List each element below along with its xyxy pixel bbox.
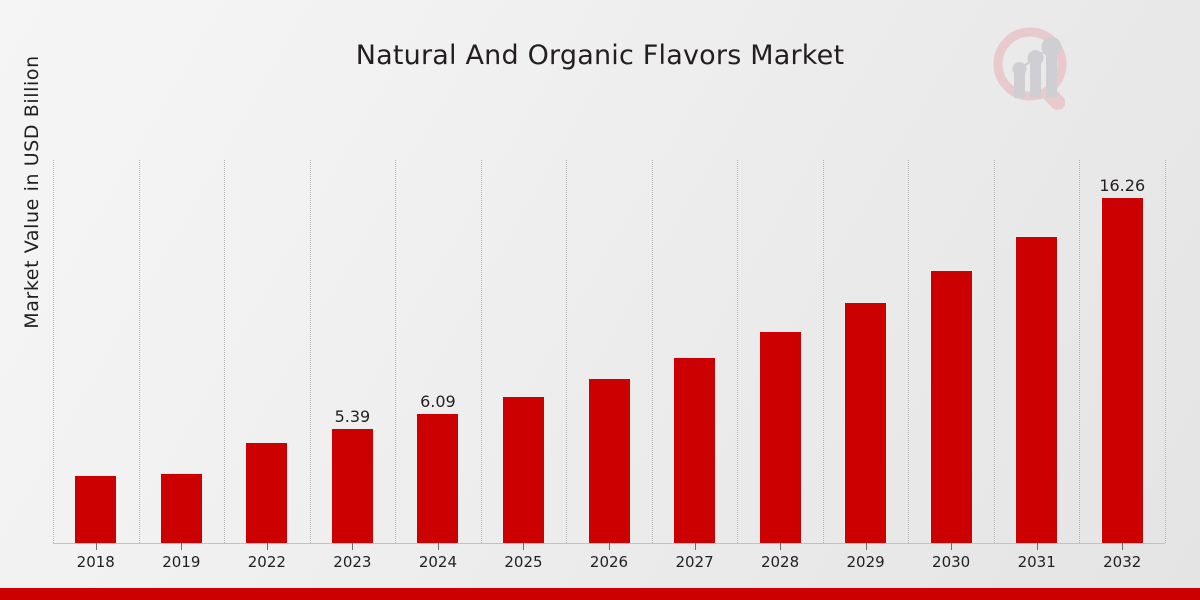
bar-2018[interactable] bbox=[74, 475, 117, 543]
page-title: Natural And Organic Flavors Market bbox=[0, 40, 1200, 71]
gridline-vertical bbox=[652, 160, 653, 543]
x-axis-label-2030: 2030 bbox=[932, 553, 970, 571]
bar-2027[interactable] bbox=[673, 357, 716, 543]
x-axis-label-2032: 2032 bbox=[1103, 553, 1141, 571]
x-axis-tick-2032 bbox=[1122, 543, 1123, 550]
x-axis-tick-2024 bbox=[438, 543, 439, 550]
bar-2024[interactable]: 6.09 bbox=[416, 413, 459, 543]
bar-value-label-2032: 16.26 bbox=[1099, 178, 1145, 194]
gridline-vertical bbox=[481, 160, 482, 543]
gridline-vertical bbox=[566, 160, 567, 543]
bar-2029[interactable] bbox=[844, 302, 887, 543]
bar-value-label-2023: 5.39 bbox=[335, 409, 371, 425]
x-axis-label-2028: 2028 bbox=[761, 553, 799, 571]
x-axis-tick-2018 bbox=[96, 543, 97, 550]
bar-2032[interactable]: 16.26 bbox=[1101, 197, 1144, 543]
gridline-vertical bbox=[994, 160, 995, 543]
x-axis-tick-2029 bbox=[866, 543, 867, 550]
gridline-vertical bbox=[310, 160, 311, 543]
bar-2030[interactable] bbox=[930, 270, 973, 543]
x-axis-tick-2028 bbox=[780, 543, 781, 550]
x-axis-label-2029: 2029 bbox=[847, 553, 885, 571]
plot-area: 5.396.0916.26 bbox=[53, 160, 1165, 543]
bar-2025[interactable] bbox=[502, 396, 545, 543]
x-axis-label-2019: 2019 bbox=[162, 553, 200, 571]
bar-2023[interactable]: 5.39 bbox=[331, 428, 374, 543]
gridline-vertical bbox=[737, 160, 738, 543]
x-axis-label-2022: 2022 bbox=[248, 553, 286, 571]
x-axis-label-2024: 2024 bbox=[419, 553, 457, 571]
x-axis-label-2031: 2031 bbox=[1018, 553, 1056, 571]
x-axis-label-2018: 2018 bbox=[77, 553, 115, 571]
x-axis-tick-2022 bbox=[267, 543, 268, 550]
x-axis-tick-2027 bbox=[695, 543, 696, 550]
x-axis-tick-2030 bbox=[951, 543, 952, 550]
x-axis-tick-2025 bbox=[523, 543, 524, 550]
gridline-vertical bbox=[224, 160, 225, 543]
bar-2019[interactable] bbox=[160, 473, 203, 543]
chart-page: Natural And Organic Flavors Market Marke… bbox=[0, 0, 1200, 600]
gridline-vertical bbox=[395, 160, 396, 543]
gridline-vertical bbox=[1079, 160, 1080, 543]
footer-accent-bar bbox=[0, 588, 1200, 600]
y-axis-label: Market Value in USD Billion bbox=[14, 0, 50, 392]
bar-2026[interactable] bbox=[588, 378, 631, 543]
gridline-vertical bbox=[139, 160, 140, 543]
x-axis-tick-2026 bbox=[609, 543, 610, 550]
gridline-vertical bbox=[908, 160, 909, 543]
gridline-vertical bbox=[1165, 160, 1166, 543]
x-axis-label-2023: 2023 bbox=[333, 553, 371, 571]
x-axis-label-2025: 2025 bbox=[504, 553, 542, 571]
x-axis-tick-2019 bbox=[181, 543, 182, 550]
bar-2028[interactable] bbox=[759, 331, 802, 543]
x-axis-label-2027: 2027 bbox=[675, 553, 713, 571]
bar-value-label-2024: 6.09 bbox=[420, 394, 456, 410]
gridline-vertical bbox=[823, 160, 824, 543]
bar-2022[interactable] bbox=[245, 442, 288, 543]
bar-2031[interactable] bbox=[1015, 236, 1058, 543]
gridline-vertical bbox=[53, 160, 54, 543]
x-axis-label-2026: 2026 bbox=[590, 553, 628, 571]
x-axis-tick-2031 bbox=[1037, 543, 1038, 550]
x-axis-tick-2023 bbox=[352, 543, 353, 550]
